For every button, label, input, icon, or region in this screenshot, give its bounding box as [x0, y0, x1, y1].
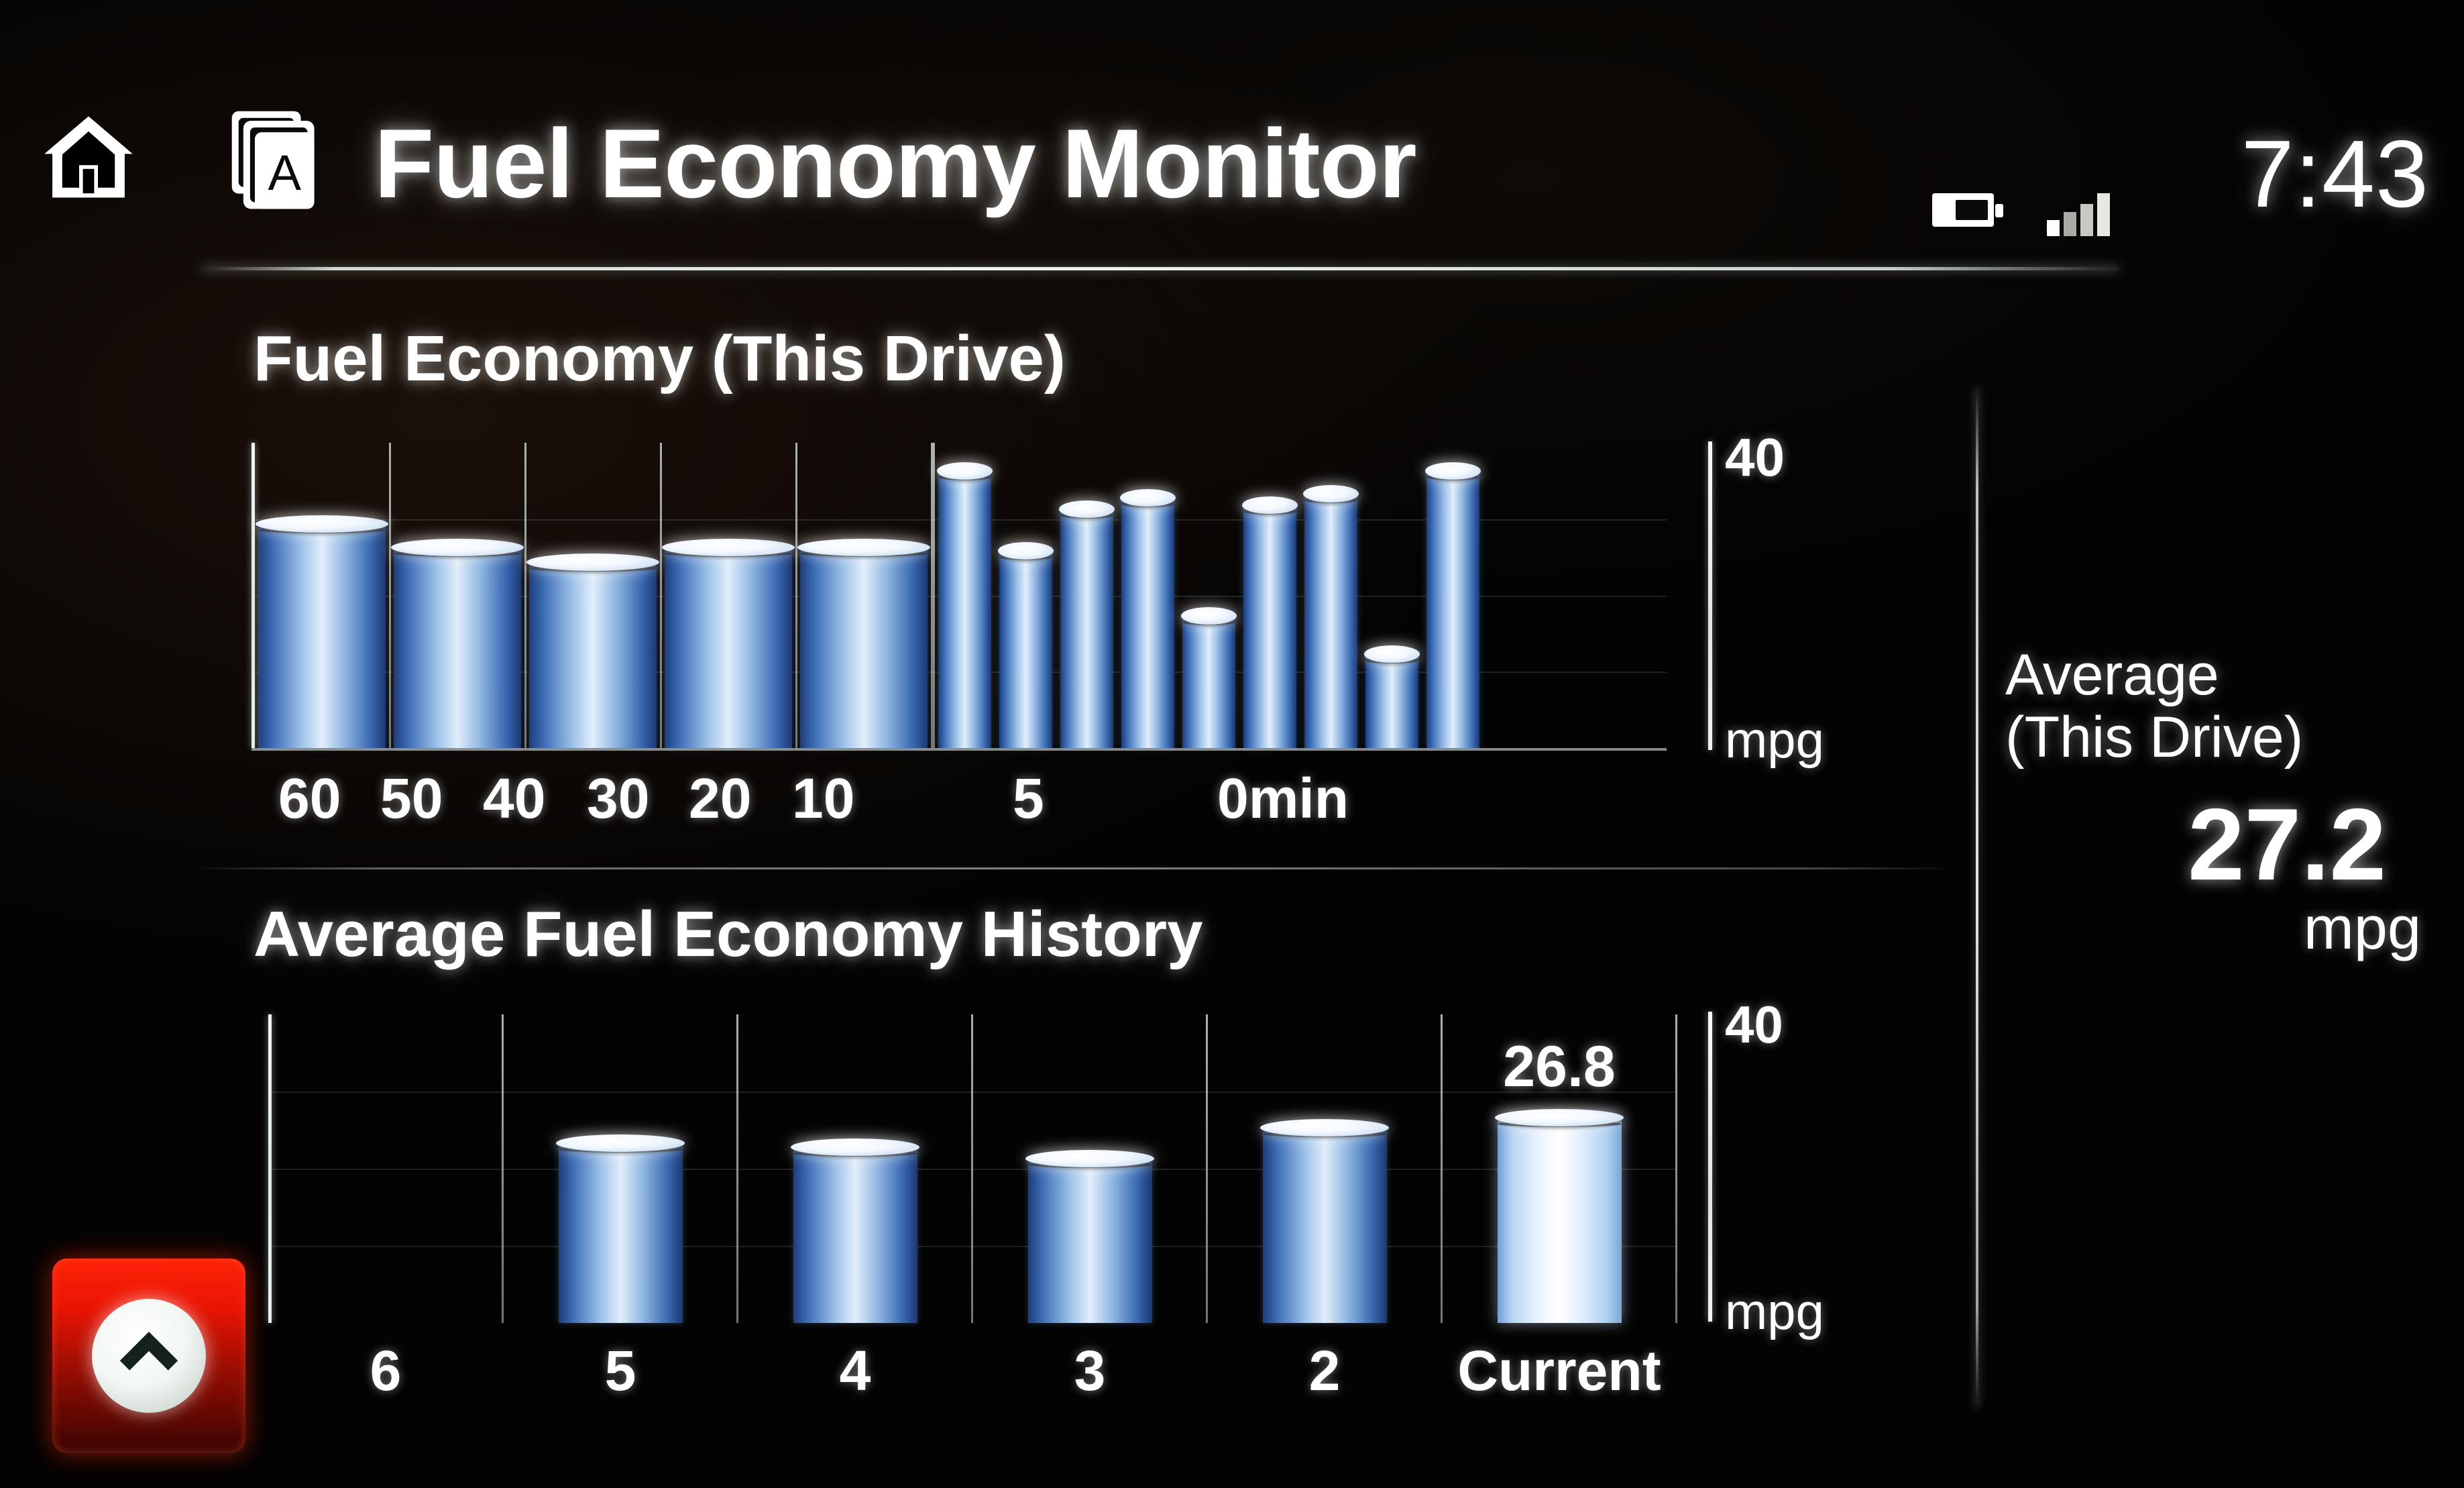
bar-cap [556, 1134, 685, 1152]
summary-value: 27.2 [2005, 786, 2448, 904]
panel-divider-horizontal [201, 867, 1945, 869]
bar-cap [1495, 1109, 1624, 1126]
bar-cap [1025, 1150, 1154, 1167]
gridline-vertical [524, 443, 526, 748]
y-scale-history [1708, 1012, 1712, 1322]
bar-cap [1303, 485, 1358, 502]
y-axis-line [268, 1014, 272, 1323]
y-top-label-this-drive: 40 [1725, 427, 1785, 488]
svg-text:A: A [268, 145, 302, 201]
bar [1182, 615, 1235, 748]
x-tick-label: 30 [587, 766, 649, 831]
gridline-vertical [795, 443, 797, 748]
bar-cap [797, 539, 930, 556]
header-bar: A Fuel Economy Monitor 7:43 [0, 0, 2464, 268]
infotainment-screen: A Fuel Economy Monitor 7:43 Fuel Economy… [0, 0, 2464, 1488]
gridline-vertical [1675, 1014, 1677, 1323]
chart-plot-this-drive [251, 443, 1667, 748]
x-tick-label: 3 [972, 1338, 1207, 1403]
bar-value-label: 26.8 [1486, 1034, 1634, 1100]
panel-divider-vertical [1976, 388, 1978, 1407]
chart-plot-history: 26.8 [268, 1014, 1677, 1323]
chart-title-this-drive: Fuel Economy (This Drive) [254, 322, 1066, 396]
bar [559, 1142, 683, 1323]
back-up-button[interactable] [52, 1259, 245, 1453]
bar [1060, 508, 1113, 748]
app-card-icon[interactable]: A [221, 107, 329, 215]
page-title: Fuel Economy Monitor [374, 107, 1416, 220]
gridline-vertical [389, 443, 391, 748]
gridline-vertical [502, 1014, 504, 1323]
bar-cap [1242, 496, 1297, 514]
y-top-label-history: 40 [1725, 994, 1783, 1055]
bar [938, 470, 991, 748]
bar-cap [1364, 645, 1419, 663]
summary-unit: mpg [2005, 894, 2448, 963]
home-icon[interactable] [42, 114, 135, 201]
bar-cap [998, 542, 1053, 560]
battery-icon [1931, 189, 2004, 232]
bar [394, 546, 521, 748]
gridline-vertical [1206, 1014, 1208, 1323]
bar [665, 546, 792, 748]
bar [800, 546, 928, 748]
x-tick-label: 20 [689, 766, 751, 831]
bar [1121, 496, 1174, 748]
bar [1304, 492, 1357, 748]
x-tick-label: 6 [268, 1338, 503, 1403]
y-unit-label-history: mpg [1725, 1283, 1824, 1341]
bar [1263, 1126, 1387, 1323]
signal-bars-icon [2046, 188, 2119, 236]
x-tick-label: Current [1442, 1338, 1677, 1403]
gridline-vertical [1441, 1014, 1443, 1323]
y-axis-line [251, 443, 255, 748]
bar [529, 561, 657, 748]
bar-cap [1425, 462, 1480, 480]
gridline-vertical [660, 443, 662, 748]
bar [1365, 653, 1418, 748]
summary-panel: Average (This Drive) 27.2 mpg [2005, 644, 2448, 963]
bar-cap [791, 1138, 919, 1156]
bar-cap [391, 539, 524, 556]
x-tick-label: 0min [1217, 766, 1349, 831]
summary-label-line1: Average [2005, 644, 2448, 706]
x-axis-line [251, 748, 1667, 751]
chevron-up-icon [92, 1299, 206, 1413]
bar-cap [662, 539, 795, 556]
bar [1426, 470, 1479, 748]
clock: 7:43 [2241, 119, 2429, 229]
x-tick-label: 5 [503, 1338, 738, 1403]
bar-cap [1059, 500, 1114, 518]
x-tick-label: 10 [792, 766, 854, 831]
gridline-vertical [933, 443, 935, 748]
x-tick-label: 5 [1013, 766, 1044, 831]
x-tick-label: 60 [278, 766, 341, 831]
bar [793, 1146, 917, 1324]
bar-cap [1120, 489, 1175, 507]
x-tick-label: 50 [380, 766, 443, 831]
bar-cap [1260, 1119, 1389, 1136]
x-tick-label: 40 [483, 766, 545, 831]
chart-title-history: Average Fuel Economy History [254, 898, 1203, 971]
bar-cap [937, 462, 992, 480]
bar-cap [1181, 607, 1236, 625]
gridline-vertical [736, 1014, 738, 1323]
bar [258, 523, 386, 748]
bar [1243, 504, 1296, 748]
gridline-vertical [971, 1014, 973, 1323]
y-scale-this-drive [1708, 441, 1712, 750]
summary-label-line2: (This Drive) [2005, 706, 2448, 769]
bar [1028, 1157, 1152, 1323]
bar [1498, 1116, 1622, 1323]
bar [999, 549, 1052, 748]
header-divider [201, 267, 2119, 270]
x-tick-label: 2 [1207, 1338, 1442, 1403]
x-tick-label: 4 [738, 1338, 972, 1403]
y-unit-label-this-drive: mpg [1725, 711, 1824, 769]
